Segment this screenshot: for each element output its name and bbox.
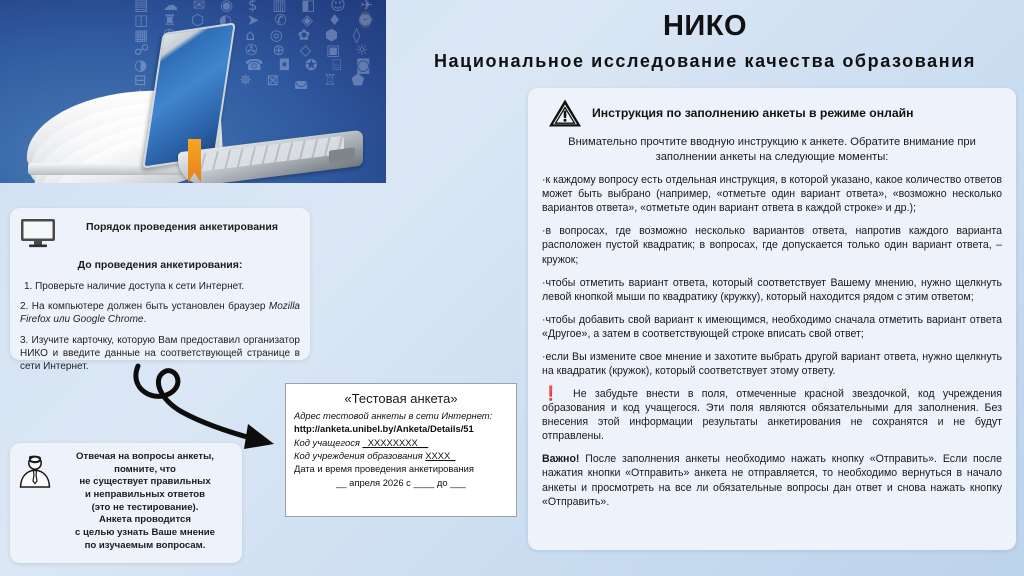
instruction-lead: Внимательно прочтите вводную инструкцию … bbox=[542, 135, 1002, 164]
note-line-6: Анкета проводится bbox=[56, 514, 234, 527]
note-line-4: и неправильных ответов bbox=[56, 489, 234, 502]
note-line-7: с целью узнать Ваше мнение bbox=[56, 527, 234, 540]
instruction-bullet-3: ·чтобы отметить вариант ответа, который … bbox=[542, 276, 1002, 304]
survey-address-label: Адрес тестовой анкеты в сети Интернет: bbox=[294, 409, 508, 422]
order-step-1: 1. Проверьте наличие доступа к сети Инте… bbox=[20, 280, 300, 293]
note-line-3: не существует правильных bbox=[56, 476, 234, 489]
datetime-value[interactable]: __ апреля 2026 с ____ до ___ bbox=[294, 476, 508, 489]
warning-triangle-icon bbox=[548, 98, 582, 128]
student-code-value[interactable]: _XXXXXXXX__ bbox=[363, 437, 429, 448]
page-header: НИКО Национальное исследование качества … bbox=[386, 0, 1024, 88]
instruction-bullet-5: ·если Вы измените свое мнение и захотите… bbox=[542, 350, 1002, 378]
instruction-warning: ❗ Не забудьте внести в поля, отмеченные … bbox=[542, 387, 1002, 443]
institution-code-row: Код учреждения образования XXXX_ bbox=[294, 449, 508, 462]
order-card-title: Порядок проведения анкетирования bbox=[64, 216, 300, 233]
survey-url[interactable]: http://anketa.unibel.by/Anketa/Details/5… bbox=[294, 422, 508, 435]
instruction-bullet-4: ·чтобы добавить свой вариант к имеющимся… bbox=[542, 313, 1002, 341]
instruction-title: Инструкция по заполнению анкеты в режиме… bbox=[592, 106, 913, 120]
instruction-important: Важно! После заполнения анкеты необходим… bbox=[542, 452, 1002, 508]
order-step-2: 2. На компьютере должен быть установлен … bbox=[20, 300, 300, 326]
test-survey-card: «Тестовая анкета» Адрес тестовой анкеты … bbox=[285, 383, 517, 517]
instruction-bullet-1: ·к каждому вопросу есть отдельная инстру… bbox=[542, 173, 1002, 215]
curved-arrow-icon bbox=[130, 352, 310, 457]
note-line-5: (это не тестирование). bbox=[56, 502, 234, 515]
hero-illustration: ▤ ☁ ✉ ◉ $ ▥ ◧ ☺ ✈ ◫ ♜ ⬡ ◐ ➤ ✆ ◈ ♦ ⌚ ▦ ✇ … bbox=[0, 0, 386, 183]
test-survey-title: «Тестовая анкета» bbox=[294, 391, 508, 406]
laptop-graphic bbox=[150, 27, 365, 177]
note-line-8: по изучаемым вопросам. bbox=[56, 540, 234, 553]
instruction-header: Инструкция по заполнению анкеты в режиме… bbox=[542, 98, 1002, 128]
instruction-bullet-2: ·в вопросах, где возможно несколько вари… bbox=[542, 224, 1002, 266]
person-icon bbox=[18, 454, 52, 490]
order-card-header: Порядок проведения анкетирования bbox=[20, 216, 300, 248]
survey-order-card: Порядок проведения анкетирования До пров… bbox=[10, 208, 310, 360]
page-title: НИКО bbox=[386, 0, 1024, 43]
answer-note-card: Отвечая на вопросы анкеты, помните, что … bbox=[10, 443, 242, 563]
order-step-2-tail: . bbox=[143, 314, 146, 325]
institution-code-value[interactable]: XXXX_ bbox=[425, 450, 455, 461]
order-card-subtitle: До проведения анкетирования: bbox=[20, 259, 300, 271]
order-step-2-text: 2. На компьютере должен быть установлен … bbox=[20, 301, 269, 312]
important-label: Важно! bbox=[542, 453, 579, 465]
important-text: После заполнения анкеты необходимо нажат… bbox=[542, 453, 1002, 507]
answer-note-text: Отвечая на вопросы анкеты, помните, что … bbox=[56, 451, 234, 552]
page-subtitle: Национальное исследование качества образ… bbox=[386, 43, 1024, 72]
note-line-2: помните, что bbox=[56, 464, 234, 477]
online-instruction-card: Инструкция по заполнению анкеты в режиме… bbox=[528, 88, 1016, 550]
institution-code-label: Код учреждения образования bbox=[294, 450, 423, 461]
datetime-label: Дата и время проведения анкетирования bbox=[294, 462, 508, 475]
exclamation-icon: ❗ bbox=[542, 385, 565, 401]
instruction-warning-text: Не забудьте внести в поля, отмеченные кр… bbox=[542, 388, 1002, 442]
monitor-icon bbox=[20, 218, 56, 248]
student-code-row: Код учащегося _XXXXXXXX__ bbox=[294, 436, 508, 449]
instruction-body: ·к каждому вопросу есть отдельная инстру… bbox=[542, 173, 1002, 509]
note-line-1: Отвечая на вопросы анкеты, bbox=[56, 451, 234, 464]
student-code-label: Код учащегося bbox=[294, 437, 360, 448]
